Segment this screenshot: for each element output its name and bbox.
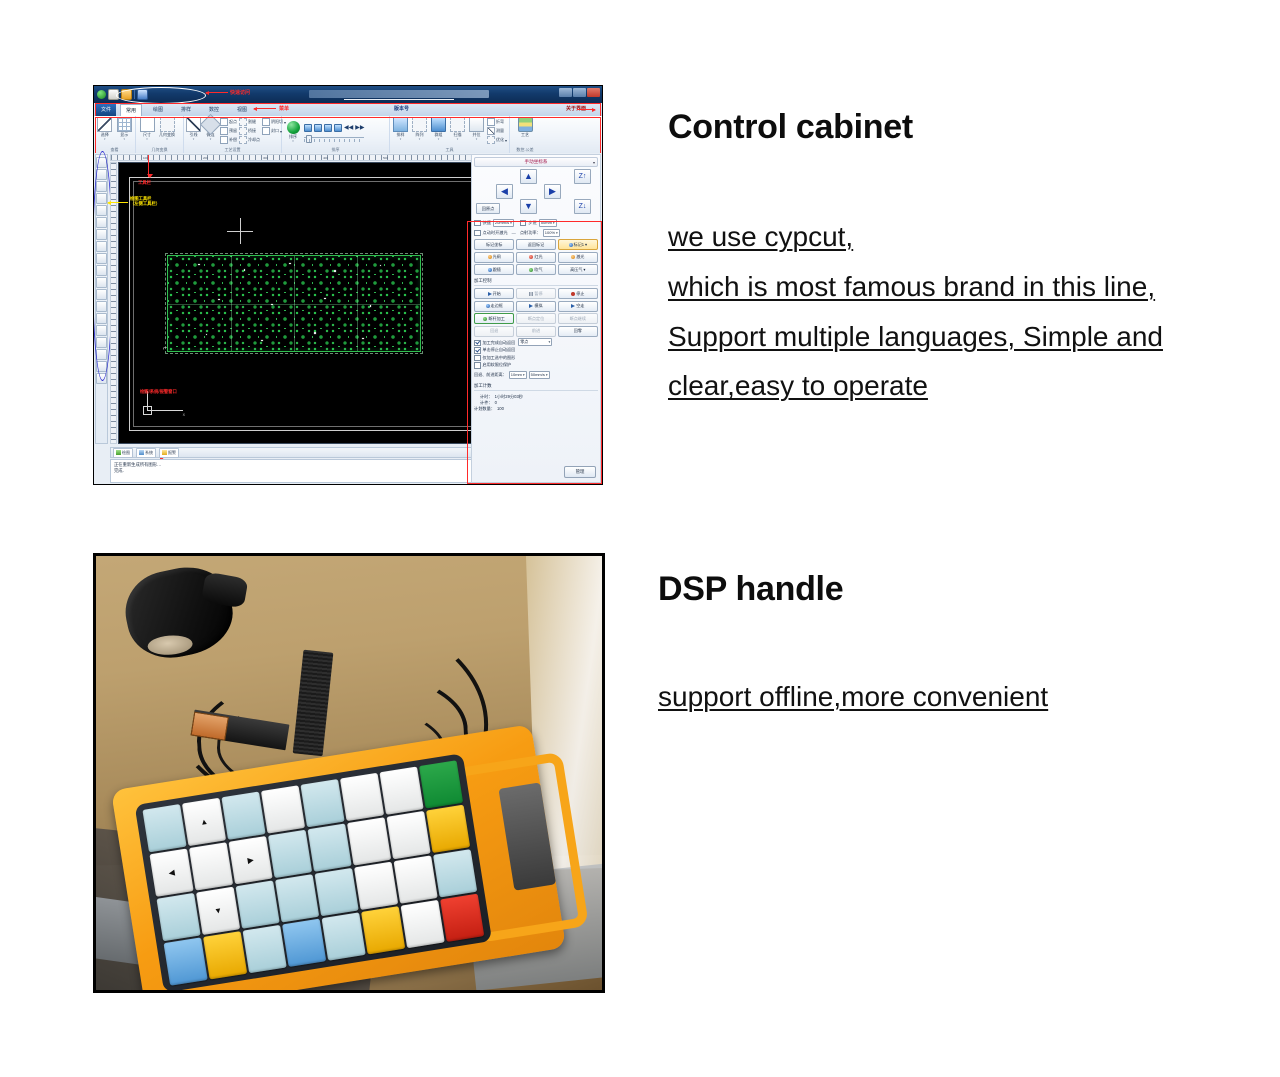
ribbon-button-optimize[interactable]: 优化 ▾ — [487, 136, 507, 144]
laser-on-jog-checkbox[interactable] — [474, 230, 481, 237]
ribbon-button-startpoint[interactable]: 起点 — [220, 118, 237, 126]
dsp-handle-body-block: support offline,more convenient — [658, 672, 1048, 722]
chevron-down-icon[interactable]: ▾ — [505, 138, 507, 143]
jog-left-button[interactable]: ◀ — [496, 184, 513, 199]
key-r2c4[interactable] — [268, 829, 312, 877]
chevron-down-icon[interactable]: ▾ — [583, 267, 585, 272]
dryrun-icon — [571, 304, 575, 308]
node-point — [289, 263, 291, 265]
origin-axes: X Y — [141, 391, 185, 417]
option-auto-return[interactable]: 加工完成自动返回 — [474, 340, 515, 347]
laser-icon — [571, 255, 575, 259]
button-label: 断点继续 — [570, 316, 586, 322]
key-r2c5[interactable] — [308, 823, 352, 871]
jog-pad[interactable]: ▲ ▼ ◀ ▶ Z↑ Z↓ 回原点 — [474, 169, 598, 217]
button-label: 空走 — [576, 303, 584, 309]
start-point-marker-icon: ⌐ — [163, 345, 167, 352]
ribbon-smallbutton-col-2: 割缝 桥接 冷却点 — [239, 117, 260, 144]
reserve-icon — [220, 127, 228, 135]
chevron-down-icon[interactable]: ▾ — [104, 138, 106, 141]
selected-only-checkbox[interactable] — [474, 355, 481, 362]
ribbon-button-transform[interactable]: 几何变换 ▾ — [158, 117, 176, 141]
ribbon-button-measure[interactable]: 测量 — [487, 127, 507, 135]
slide-root: 快速访问 文件 常用 绘图 排样 数控 视图 — [0, 0, 1280, 1077]
key-r3c8[interactable] — [433, 849, 477, 897]
key-r3c5[interactable] — [315, 867, 359, 915]
key-r2c7[interactable] — [387, 811, 431, 859]
tool-polygon-icon[interactable] — [96, 217, 107, 228]
customize-chevron-down-icon[interactable] — [166, 90, 172, 99]
x-axis-label: X — [183, 413, 185, 417]
control-cabinet-line-1: we use cypcut, — [668, 212, 1163, 262]
node-point — [334, 270, 336, 272]
ribbon-button-bend[interactable]: 折弯 — [487, 118, 507, 126]
bend-icon — [487, 118, 495, 126]
fast-speed-checkbox[interactable] — [474, 220, 481, 227]
drawing-toolbar[interactable] — [95, 154, 108, 444]
toolbar-annotation-arrow-icon — [148, 155, 149, 177]
coordinate-system-dropdown[interactable]: 手动坐标系 ▾ — [474, 157, 598, 167]
open-file-icon[interactable] — [121, 89, 132, 100]
rewind-icon[interactable]: ◀◀ — [344, 125, 353, 131]
option-selected-only[interactable]: 仅加工选中的图形 — [474, 355, 515, 362]
scan-icon — [450, 117, 465, 132]
pendant-keypad[interactable]: ▲ ◀ ▶ — [135, 753, 492, 990]
key-down-arrow[interactable]: ▼ — [197, 886, 241, 934]
tool-pan-icon[interactable] — [96, 373, 107, 384]
speed-option-row[interactable]: 快速 20mm/s 步进 50mm — [474, 219, 598, 227]
key-r1c4[interactable] — [261, 785, 305, 833]
forward-icon[interactable]: ▶▶ — [355, 125, 364, 131]
redlight-icon — [529, 255, 533, 259]
workspace: 100 200 300 400 500 — [94, 153, 602, 484]
ribbon-button-label: 桥接 — [248, 128, 256, 134]
group-icon — [431, 117, 446, 132]
control-cabinet-body-block: we use cypcut, which is most famous bran… — [668, 212, 1163, 411]
key-r3c4[interactable] — [275, 874, 319, 922]
ribbon-button-label: 测量 — [496, 128, 504, 134]
ribbon-button-craft[interactable]: 工艺 — [516, 117, 534, 138]
ribbon-group-craft: 工艺 数控-公差 — [510, 116, 540, 153]
button-label: 高压气 — [570, 267, 582, 273]
new-file-icon[interactable] — [108, 89, 119, 100]
advance-button[interactable]: 前进 — [516, 326, 556, 337]
key-r4c7[interactable] — [401, 899, 445, 947]
quick-access-annotation: 快速访问 — [206, 89, 250, 96]
stat-value: 100 — [497, 406, 504, 412]
ribbon-button-cool[interactable]: 冷却点 — [239, 136, 260, 144]
ribbon-group-sort: 排序 ▾ ◀◀ ▶▶ — [282, 116, 390, 153]
ribbon-button-lead[interactable]: 引线 ▾ — [186, 117, 201, 141]
chevron-down-icon[interactable]: ▾ — [457, 138, 459, 141]
close-button[interactable] — [587, 88, 600, 97]
breakpoint-icon — [483, 317, 487, 321]
button-label: 模拟 — [534, 303, 542, 309]
go-home-button[interactable]: 回原点 — [476, 203, 500, 214]
ribbon-button-label: 起点 — [229, 119, 237, 125]
pointer-power-value[interactable]: 100% — [543, 229, 560, 237]
chevron-down-icon[interactable]: ▾ — [146, 138, 148, 141]
gas-select-button[interactable]: 高压气▾ — [558, 264, 598, 275]
key-start-green[interactable] — [419, 760, 463, 808]
ribbon-button-reserve[interactable]: 预留 — [220, 127, 237, 135]
chevron-down-icon[interactable]: ▾ — [476, 138, 478, 141]
button-label: 暂停 — [534, 291, 542, 297]
ribbon-button-kerf[interactable]: 割缝 — [239, 118, 260, 126]
jog-right-button[interactable]: ▶ — [544, 184, 561, 199]
stat-value: 1小时29分03秒 — [495, 394, 523, 400]
option-label: 加工完成自动返回 — [483, 340, 516, 346]
ribbon-button-label: 封口 — [271, 128, 279, 134]
key-r4c2[interactable] — [204, 931, 248, 979]
button-label: 回退 — [490, 328, 498, 334]
diamond-icon — [200, 114, 221, 135]
simulate-button[interactable]: 模拟 — [516, 301, 556, 312]
tool-rect-icon[interactable] — [96, 205, 107, 216]
chevron-down-icon[interactable]: ▾ — [585, 242, 587, 247]
control-panel[interactable]: 手动坐标系 ▾ ▲ ▼ ◀ ▶ Z↑ Z↓ 回原点 快速 — [471, 154, 601, 483]
bottom-tab-label: 报警 — [168, 449, 176, 457]
machining-button-grid[interactable]: 开始 暂停 停止 走边框 模拟 空走 断杆加工 断点定位 断点继续 回退 前进 … — [474, 288, 598, 337]
button-label: 激光 — [576, 254, 584, 260]
ribbon-button-array[interactable]: 阵列 ▾ — [411, 117, 428, 141]
node-point — [271, 304, 273, 306]
play-icon — [488, 292, 492, 296]
button-label: 返回标记 — [528, 242, 544, 248]
stop-button[interactable]: 停止 — [558, 288, 598, 299]
key-right-arrow[interactable]: ▶ — [229, 836, 273, 884]
window-controls[interactable] — [559, 88, 600, 97]
key-r1c3[interactable] — [222, 791, 266, 839]
usb-tip — [191, 711, 229, 741]
key-r3c7[interactable] — [394, 855, 438, 903]
control-cabinet-screenshot: 快速访问 文件 常用 绘图 排样 数控 视图 — [93, 85, 603, 485]
vertical-ruler — [110, 162, 117, 444]
bridge-icon — [239, 127, 247, 135]
lead-icon — [186, 117, 201, 132]
return-speed-value[interactable]: 50mm/s — [529, 371, 550, 379]
return-mark-button[interactable]: 返回标记 — [516, 239, 556, 250]
machining-options[interactable]: 加工完成自动返回 单击停止自动返回 仅加工选中的图形 — [474, 340, 515, 369]
sort-speed-slider[interactable] — [304, 134, 364, 142]
alarm-icon — [162, 450, 167, 455]
cool-icon — [239, 136, 247, 144]
chevron-down-icon[interactable]: ▾ — [123, 138, 125, 141]
button-label: 开始 — [493, 291, 501, 297]
tab-cnc[interactable]: 数控 — [204, 104, 224, 116]
button-label: 断杆加工 — [488, 316, 504, 322]
crosshair-cursor-icon — [227, 218, 253, 244]
chevron-down-icon[interactable]: ▾ — [593, 159, 595, 167]
origin-select-dropdown[interactable]: 零点 — [518, 338, 552, 346]
manage-button[interactable]: 管理 — [564, 466, 596, 478]
follow-button[interactable]: 跟随 — [474, 264, 514, 275]
node-point — [370, 305, 372, 307]
maximize-button[interactable] — [573, 88, 586, 97]
key-r4c6[interactable] — [361, 906, 405, 954]
retreat-button[interactable]: 回退 — [474, 326, 514, 337]
dsp-handle-line-1: support offline,more convenient — [658, 672, 1048, 722]
key-r1c6[interactable] — [340, 772, 384, 820]
pointer-option-row[interactable]: 点动时开激光 — 点射功率： 100% — [474, 229, 598, 237]
chevron-down-icon[interactable]: ▾ — [400, 138, 402, 141]
bottom-annotation-label: 绘图/系统/报警窗口 — [140, 389, 177, 394]
button-label: 吹气 — [534, 267, 542, 273]
coordinate-button-grid[interactable]: 标记坐标 返回标记 标记1▾ 光闸 红光 激光 跟随 吹气 高压气▾ — [474, 239, 598, 275]
document-title — [309, 90, 489, 98]
bottom-tab-draw[interactable]: 绘图 — [113, 448, 133, 458]
chevron-down-icon[interactable]: ▾ — [292, 140, 294, 143]
title-underline — [344, 99, 454, 100]
rect-icon — [140, 117, 155, 132]
chevron-down-icon[interactable]: ▾ — [438, 138, 440, 141]
option-label: 启用软限位保护 — [483, 362, 512, 368]
toolbar-annotation-label: 工具栏 — [138, 180, 151, 185]
blow-icon — [529, 268, 533, 272]
ribbon-button-display[interactable]: 显示 ▾ — [116, 117, 134, 141]
seal-icon — [262, 127, 270, 135]
key-r1c5[interactable] — [301, 779, 345, 827]
ribbon[interactable]: 选择 ▾ 显示 ▾ 查看 — [94, 116, 602, 154]
tool-circle-icon[interactable] — [96, 181, 107, 192]
back-icon[interactable] — [334, 124, 342, 132]
button-label: 断点定位 — [528, 316, 544, 322]
ribbon-button-sort[interactable]: 排序 ▾ — [284, 121, 302, 143]
save-icon[interactable] — [137, 89, 148, 100]
option-label: 仅加工选中的图形 — [483, 355, 516, 361]
fast-speed-value[interactable]: 20mm/s — [493, 219, 514, 227]
workpiece-graphic[interactable] — [167, 255, 421, 352]
ribbon-button-label: 工艺 — [521, 132, 529, 138]
x-axis — [147, 410, 183, 411]
control-cabinet-heading-block: Control cabinet — [668, 110, 913, 146]
stat-row-planned: 计划数量： 100 — [474, 406, 598, 412]
moveup-icon[interactable] — [304, 124, 312, 132]
about-annotation-arrow-icon — [577, 109, 595, 110]
blow-button[interactable]: 吹气 — [516, 264, 556, 275]
tool-polyline-icon[interactable] — [96, 169, 107, 180]
ribbon-button-group[interactable]: 群组 ▾ — [430, 117, 447, 141]
option-soft-limit[interactable]: 启用软限位保护 — [474, 362, 515, 369]
yinyang-icon — [262, 118, 270, 126]
bottom-tab-system[interactable]: 系统 — [136, 448, 156, 458]
ribbon-button-select[interactable]: 选择 ▾ — [96, 117, 114, 141]
origin-square-icon — [143, 406, 152, 415]
ribbon-smallbutton-col-1: 起点 预留 补偿 — [220, 117, 237, 144]
laser-button[interactable]: 激光 — [558, 252, 598, 263]
breakpoint-resume-button[interactable]: 断点继续 — [558, 313, 598, 324]
fast-speed-label: 快速 — [483, 220, 491, 226]
minimize-button[interactable] — [559, 88, 572, 97]
tab-file[interactable]: 文件 — [96, 104, 116, 116]
jog-down-button[interactable]: ▼ — [520, 199, 537, 214]
chevron-down-icon[interactable]: ▾ — [210, 138, 212, 141]
jog-z-up-button[interactable]: Z↑ — [574, 169, 591, 184]
mark-coordinate-button[interactable]: 标记坐标 — [474, 239, 514, 250]
button-label: 跟随 — [493, 267, 501, 273]
menu-annotation-label: 菜单 — [279, 105, 289, 112]
marker-icon — [569, 243, 573, 247]
stop-icon — [571, 292, 575, 296]
stats-box: 计时： 1小时29分03秒 计件： 0 计划数量： 100 — [474, 394, 598, 412]
tool-measure-icon[interactable] — [96, 349, 107, 360]
frame-button[interactable]: 走边框 — [474, 301, 514, 312]
key-r1c1[interactable] — [143, 804, 187, 852]
nest-icon — [393, 117, 408, 132]
kerf-icon — [239, 118, 247, 126]
dsp-photo-scene: ▲ ◀ ▶ — [96, 556, 602, 990]
startpoint-icon — [220, 118, 228, 126]
return-distance-row[interactable]: 回退、前进距离： 10mm 50mm/s — [474, 371, 598, 379]
redlight-button[interactable]: 红光 — [516, 252, 556, 263]
button-label: 标记1 — [574, 242, 584, 248]
dryrun-button[interactable]: 空走 — [558, 301, 598, 312]
tool-explode-icon[interactable] — [96, 325, 107, 336]
bottom-tab-label: 绘图 — [122, 449, 130, 457]
tool-text-icon[interactable] — [96, 229, 107, 240]
key-r3c6[interactable] — [354, 861, 398, 909]
movedown-icon[interactable] — [314, 124, 322, 132]
front-icon[interactable] — [324, 124, 332, 132]
draw-icon — [116, 450, 121, 455]
key-r4c3[interactable] — [243, 924, 287, 972]
grid-icon — [117, 117, 132, 132]
ruler-tick-label: 300 — [263, 156, 268, 160]
laser-on-jog-label: 点动时开激光 — [483, 230, 508, 236]
slider-ticks — [304, 139, 364, 142]
button-label: 光闸 — [493, 254, 501, 260]
breakpoint-machining-button[interactable]: 断杆加工 — [474, 313, 514, 324]
key-r3c1[interactable] — [157, 892, 201, 940]
ribbon-group-process: 引线 ▾ 微连 ▾ 起点 — [184, 116, 282, 153]
start-button[interactable]: 开始 — [474, 288, 514, 299]
pause-icon — [529, 292, 533, 296]
key-r4c4[interactable] — [282, 918, 326, 966]
step-value[interactable]: 50mm — [539, 219, 557, 227]
key-r4c5[interactable] — [322, 912, 366, 960]
quick-access-annotation-label: 快速访问 — [230, 89, 250, 96]
chevron-down-icon[interactable]: ▾ — [166, 138, 168, 141]
tab-draw[interactable]: 绘图 — [148, 104, 168, 116]
key-r1c7[interactable] — [380, 766, 424, 814]
stop-return-checkbox[interactable] — [474, 347, 481, 354]
simulate-icon — [529, 304, 533, 308]
ribbon-button-merge[interactable]: 并位 ▾ — [468, 117, 485, 141]
measure-icon — [487, 127, 495, 135]
tool-mirror-icon[interactable] — [96, 277, 107, 288]
tool-rotate-icon[interactable] — [96, 289, 107, 300]
button-label: 回零 — [574, 328, 582, 334]
chevron-down-icon[interactable]: ▾ — [193, 138, 195, 141]
button-label: 标记坐标 — [486, 242, 502, 248]
follow-icon — [488, 268, 492, 272]
button-label: 走边框 — [491, 303, 503, 309]
ribbon-button-size[interactable]: 尺寸 ▾ — [138, 117, 156, 141]
stats-section-title: 加工计数 — [474, 383, 598, 391]
marker-select-button[interactable]: 标记1▾ — [558, 239, 598, 250]
ruler-tick-label: 400 — [323, 156, 328, 160]
key-r2c6[interactable] — [347, 817, 391, 865]
stat-label: 计划数量： — [474, 406, 495, 412]
ribbon-smallbutton-col-tools: 折弯 测量 优化 ▾ — [487, 117, 507, 144]
tool-join-icon[interactable] — [96, 337, 107, 348]
ribbon-button-microjoint[interactable]: 微连 ▾ — [203, 117, 218, 141]
jog-up-button[interactable]: ▲ — [520, 169, 537, 184]
chevron-down-icon[interactable]: ▾ — [419, 138, 421, 141]
tool-scale-icon[interactable] — [96, 301, 107, 312]
drawing-toolbar-annotation-arrow-icon — [108, 202, 128, 203]
ribbon-button-nest[interactable]: 排样 ▾ — [392, 117, 409, 141]
ribbon-button-bridge[interactable]: 桥接 — [239, 127, 260, 135]
soft-limit-checkbox[interactable] — [474, 362, 481, 369]
tab-nest[interactable]: 排样 — [176, 104, 196, 116]
key-r3c3[interactable] — [236, 880, 280, 928]
node-point — [198, 264, 200, 266]
app-orb-icon[interactable] — [97, 90, 106, 99]
tool-trim-icon[interactable] — [96, 253, 107, 264]
shutter-button[interactable]: 光闸 — [474, 252, 514, 263]
tool-align-icon[interactable] — [96, 313, 107, 324]
redo-icon[interactable] — [158, 90, 164, 99]
ribbon-button-scan[interactable]: 扫描 ▾ — [449, 117, 466, 141]
shutter-icon — [488, 255, 492, 259]
key-stop-red[interactable] — [440, 893, 484, 941]
pause-button[interactable]: 暂停 — [516, 288, 556, 299]
ribbon-button-compensate[interactable]: 补偿 — [220, 136, 237, 144]
quick-access-toolbar[interactable] — [97, 89, 172, 100]
key-r2c2[interactable] — [189, 842, 233, 890]
node-point — [261, 340, 263, 342]
tab-view[interactable]: 视图 — [232, 104, 252, 116]
button-label: 红光 — [534, 254, 542, 260]
jog-z-down-button[interactable]: Z↓ — [574, 199, 591, 214]
tool-line-icon[interactable] — [96, 157, 107, 168]
cypcut-application: 快速访问 文件 常用 绘图 排样 数控 视图 — [94, 86, 602, 484]
tool-zoom-icon[interactable] — [96, 361, 107, 372]
tool-offset-icon[interactable] — [96, 265, 107, 276]
option-label: 单击停止自动返回 — [483, 347, 516, 353]
ruler-tick-label: 500 — [383, 156, 388, 160]
key-r4c1[interactable] — [164, 937, 208, 985]
ribbon-button-label: 预留 — [229, 128, 237, 134]
breakpoint-locate-button[interactable]: 断点定位 — [516, 313, 556, 324]
step-checkbox[interactable] — [520, 220, 527, 227]
ruler-tick-label: 200 — [203, 156, 208, 160]
key-pause-yellow[interactable] — [426, 804, 470, 852]
key-left-arrow[interactable]: ◀ — [150, 848, 194, 896]
compensate-icon — [220, 136, 228, 144]
option-stop-return[interactable]: 单击停止自动返回 — [474, 347, 515, 354]
bottom-tab-alarm[interactable]: 报警 — [159, 448, 179, 458]
merge-icon — [469, 117, 484, 132]
drawing-toolbar-annotation-label: 绘图工具栏 （左侧工具栏） — [130, 196, 160, 207]
return-zero-button[interactable]: 回零 — [558, 326, 598, 337]
ribbon-tabstrip[interactable]: 文件 常用 绘图 排样 数控 视图 菜单 版本号 关于界面 — [94, 103, 602, 117]
auto-return-checkbox[interactable] — [474, 340, 481, 347]
key-up-arrow[interactable]: ▲ — [182, 797, 226, 845]
optimize-icon — [487, 136, 495, 144]
undo-icon[interactable] — [150, 90, 156, 99]
control-cabinet-line-2: which is most famous brand in this line, — [668, 262, 1163, 312]
tool-point-icon[interactable] — [96, 241, 107, 252]
node-point — [244, 269, 246, 271]
divider: — — [512, 231, 516, 236]
ribbon-button-label: 折弯 — [496, 119, 504, 125]
craft-icon — [518, 117, 533, 132]
return-distance-value[interactable]: 10mm — [509, 371, 527, 379]
tool-arc-icon[interactable] — [96, 193, 107, 204]
ribbon-button-label: 冷却点 — [248, 137, 260, 143]
